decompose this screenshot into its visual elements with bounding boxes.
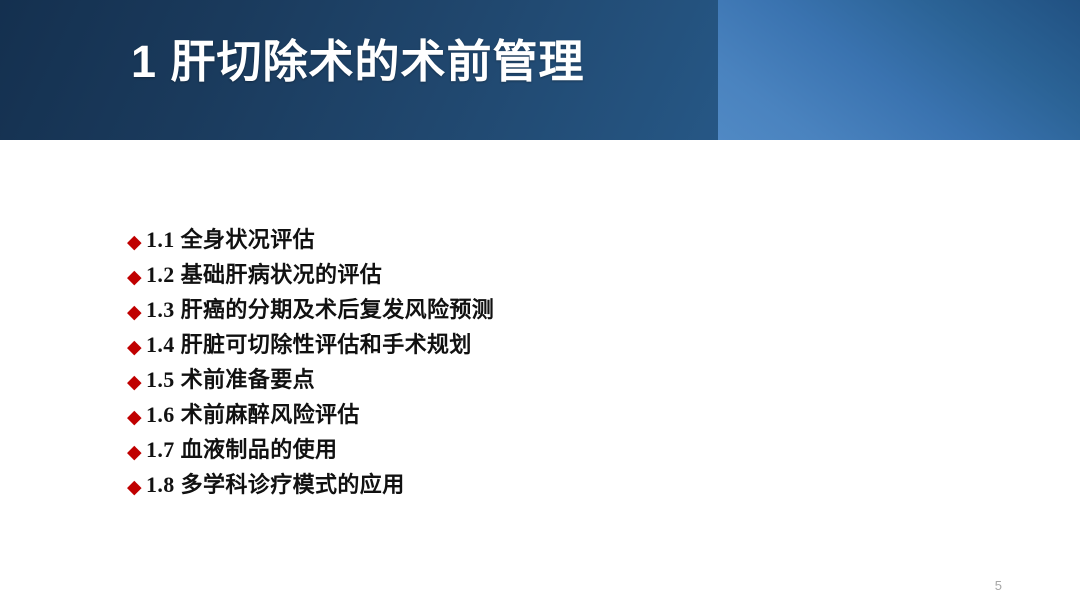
diamond-bullet-icon: ◆ (127, 400, 146, 435)
list-item[interactable]: ◆ 1.2 基础肝病状况的评估 (127, 257, 494, 292)
diamond-bullet-icon: ◆ (127, 295, 146, 330)
diamond-bullet-icon: ◆ (127, 260, 146, 295)
agenda-list: ◆ 1.1 全身状况评估 ◆ 1.2 基础肝病状况的评估 ◆ 1.3 肝癌的分期… (127, 222, 494, 502)
slide-body: ◆ 1.1 全身状况评估 ◆ 1.2 基础肝病状况的评估 ◆ 1.3 肝癌的分期… (0, 140, 1080, 608)
header-band: 1 肝切除术的术前管理 (0, 0, 1080, 140)
list-item-label: 1.8 多学科诊疗模式的应用 (146, 467, 405, 502)
diamond-bullet-icon: ◆ (127, 225, 146, 260)
list-item[interactable]: ◆ 1.1 全身状况评估 (127, 222, 494, 257)
list-item[interactable]: ◆ 1.8 多学科诊疗模式的应用 (127, 467, 494, 502)
list-item[interactable]: ◆ 1.6 术前麻醉风险评估 (127, 397, 494, 432)
diamond-bullet-icon: ◆ (127, 365, 146, 400)
list-item-label: 1.4 肝脏可切除性评估和手术规划 (146, 327, 472, 362)
list-item-label: 1.6 术前麻醉风险评估 (146, 397, 360, 432)
slide-root: 1 肝切除术的术前管理 ◆ 1.1 全身状况评估 ◆ 1.2 基础肝病状况的评估… (0, 0, 1080, 608)
page-number: 5 (995, 578, 1002, 594)
list-item-label: 1.1 全身状况评估 (146, 222, 315, 257)
page-title: 1 肝切除术的术前管理 (131, 31, 585, 93)
list-item-label: 1.5 术前准备要点 (146, 362, 315, 397)
diamond-bullet-icon: ◆ (127, 330, 146, 365)
diamond-bullet-icon: ◆ (127, 470, 146, 505)
list-item[interactable]: ◆ 1.4 肝脏可切除性评估和手术规划 (127, 327, 494, 362)
list-item-label: 1.3 肝癌的分期及术后复发风险预测 (146, 292, 494, 327)
header-right-gradient-panel (718, 0, 1080, 140)
list-item[interactable]: ◆ 1.7 血液制品的使用 (127, 432, 494, 467)
list-item[interactable]: ◆ 1.5 术前准备要点 (127, 362, 494, 397)
list-item[interactable]: ◆ 1.3 肝癌的分期及术后复发风险预测 (127, 292, 494, 327)
diamond-bullet-icon: ◆ (127, 435, 146, 470)
list-item-label: 1.7 血液制品的使用 (146, 432, 337, 467)
list-item-label: 1.2 基础肝病状况的评估 (146, 257, 382, 292)
